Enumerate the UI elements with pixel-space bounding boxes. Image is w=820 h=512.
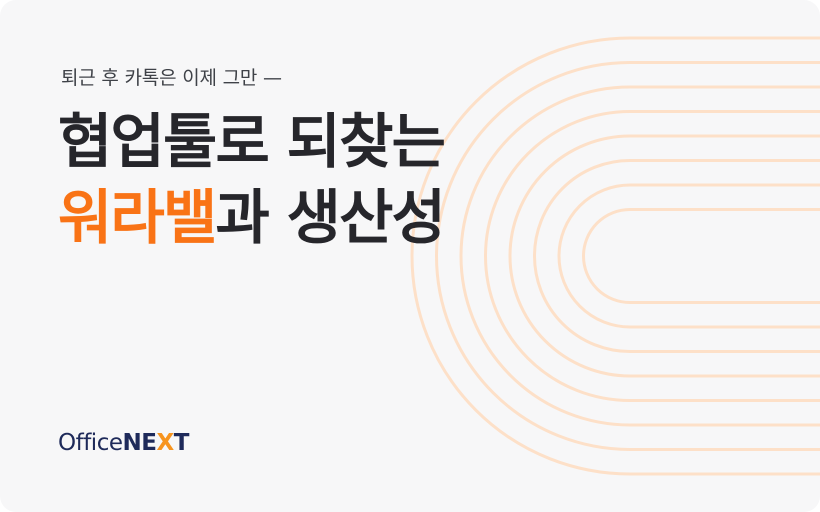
eyebrow-text: 퇴근 후 카톡은 이제 그만 — [61,63,282,90]
arc-ring-7 [559,185,820,327]
brand-logo: OfficeNEXT [58,432,189,455]
logo-text-office: Office [58,430,122,456]
arc-ring-5 [510,136,820,376]
headline-highlight: 워라밸 [58,183,215,252]
arc-ring-8 [584,210,820,303]
logo-text-ne: NE [122,430,156,456]
headline-line-2-rest: 과 생산성 [215,183,444,252]
promo-card: 퇴근 후 카톡은 이제 그만 — 협업툴로 되찾는 워라밸과 생산성 Offic… [0,0,820,512]
logo-text-x: X [156,430,173,456]
logo-text-t: T [174,430,189,456]
arc-ring-4 [486,112,820,401]
page-title: 협업툴로 되찾는 워라밸과 생산성 [58,104,444,256]
headline-line-1: 협업툴로 되찾는 [58,104,444,180]
arc-ring-6 [535,161,820,352]
headline-line-2: 워라밸과 생산성 [58,180,444,256]
